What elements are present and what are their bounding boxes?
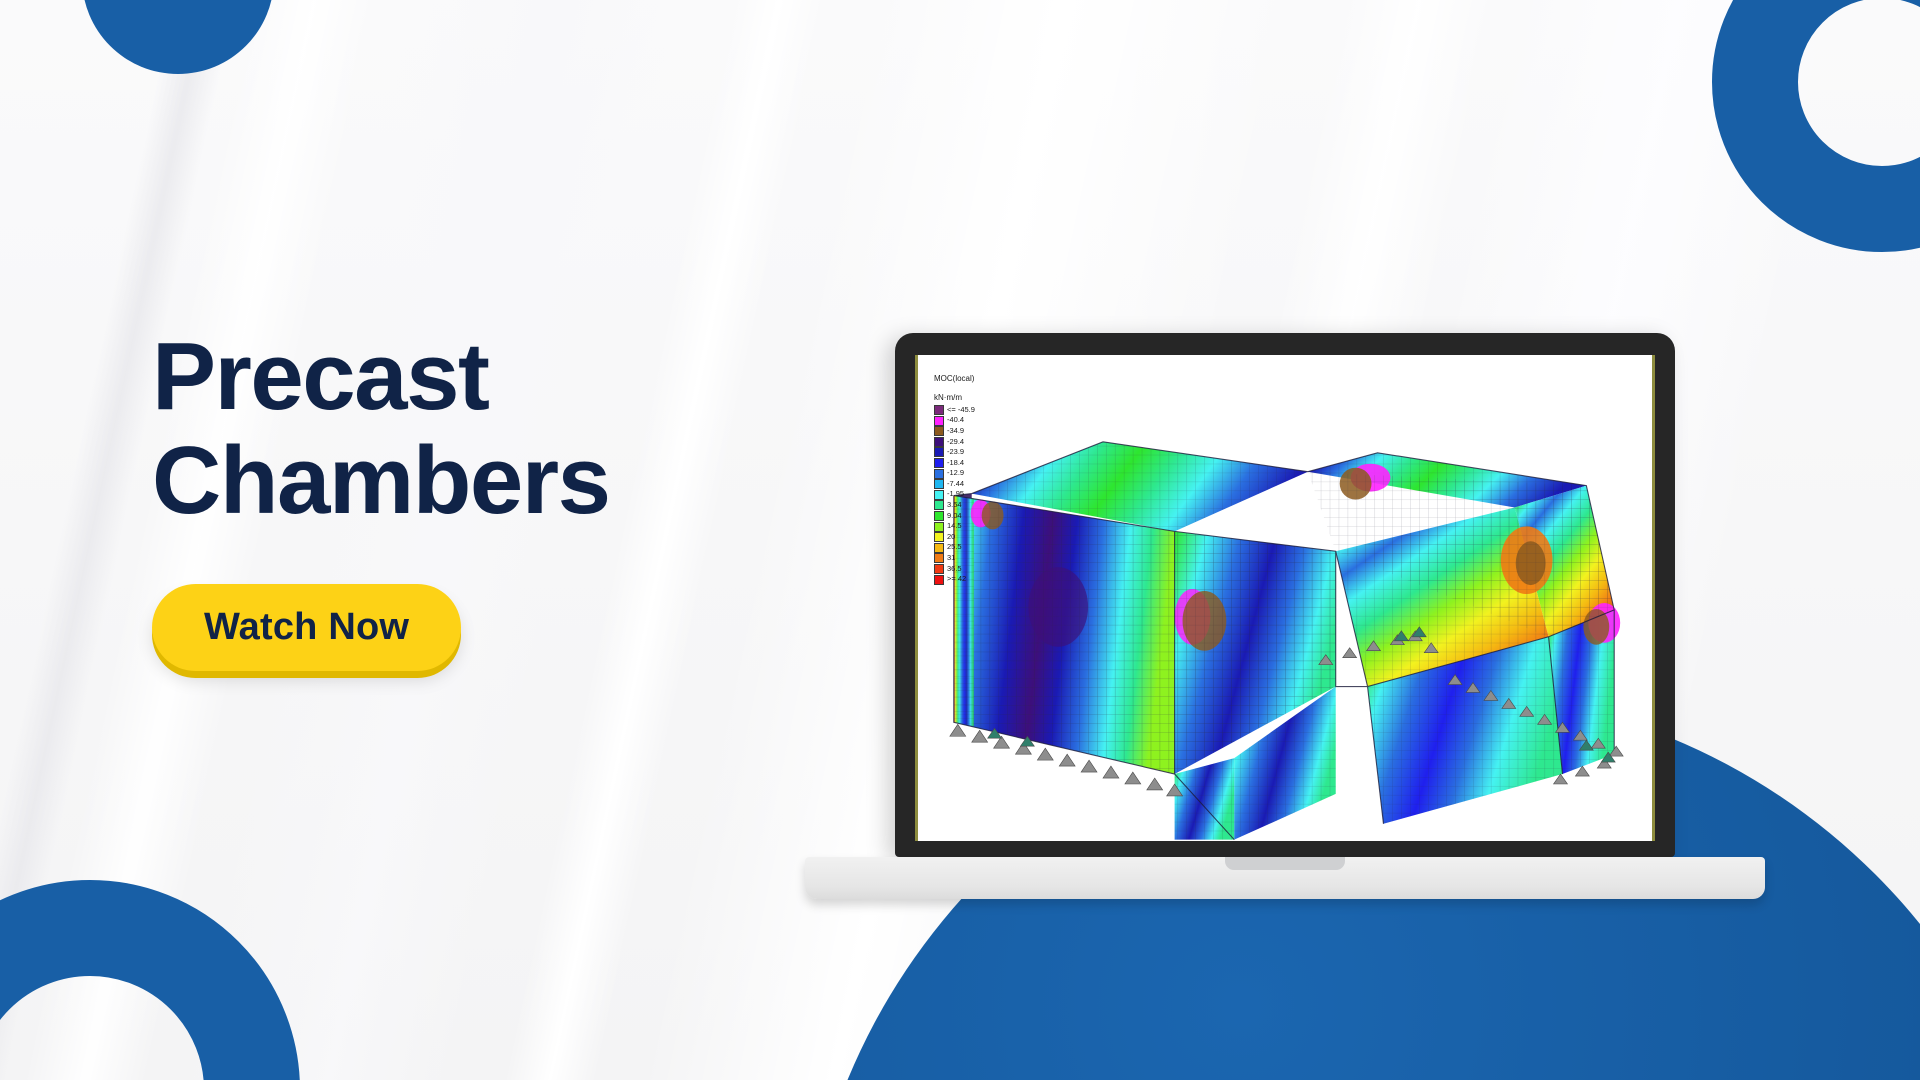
legend-label: 9.04	[947, 512, 962, 521]
laptop-lid: MOC(local) kN·m/m <= -45.9-40.4-34.9-29.…	[895, 333, 1675, 857]
legend-label: -18.4	[947, 459, 964, 468]
legend-item: 3.54	[934, 500, 1008, 511]
fea-contour-plot: MOC(local) kN·m/m <= -45.9-40.4-34.9-29.…	[918, 355, 1652, 841]
legend-label: >= 42	[947, 575, 966, 584]
legend-item: -7.44	[934, 479, 1008, 490]
page-title: Precast Chambers	[152, 325, 792, 532]
legend-item: -29.4	[934, 437, 1008, 448]
legend-item: 20	[934, 532, 1008, 543]
laptop-base	[805, 857, 1765, 899]
legend-swatch	[934, 532, 944, 542]
legend-quantity: MOC(local)	[934, 374, 974, 383]
legend-swatch	[934, 553, 944, 563]
legend-item: -12.9	[934, 468, 1008, 479]
legend-label: -34.9	[947, 427, 964, 436]
legend-title: MOC(local) kN·m/m	[934, 365, 1008, 402]
legend-rows: <= -45.9-40.4-34.9-29.4-23.9-18.4-12.9-7…	[934, 405, 1008, 585]
legend-swatch	[934, 500, 944, 510]
legend-label: -29.4	[947, 438, 964, 447]
laptop-screen[interactable]: MOC(local) kN·m/m <= -45.9-40.4-34.9-29.…	[915, 355, 1655, 841]
legend-label: 25.5	[947, 543, 962, 552]
legend-item: 36.5	[934, 564, 1008, 575]
legend-swatch	[934, 479, 944, 489]
legend-label: 31	[947, 554, 955, 563]
legend-item: <= -45.9	[934, 405, 1008, 416]
legend-item: -23.9	[934, 447, 1008, 458]
legend-label: -1.95	[947, 490, 964, 499]
legend-label: -40.4	[947, 416, 964, 425]
legend-label: 3.54	[947, 501, 962, 510]
legend-item: 31	[934, 553, 1008, 564]
contour-legend: MOC(local) kN·m/m <= -45.9-40.4-34.9-29.…	[934, 365, 1008, 585]
legend-swatch	[934, 522, 944, 532]
legend-swatch	[934, 437, 944, 447]
hero-copy: Precast Chambers Watch Now	[152, 325, 792, 671]
legend-item: -34.9	[934, 426, 1008, 437]
legend-item: >= 42	[934, 574, 1008, 585]
legend-swatch	[934, 447, 944, 457]
fea-model-graphic	[918, 355, 1652, 841]
legend-label: -23.9	[947, 448, 964, 457]
legend-swatch	[934, 405, 944, 415]
legend-swatch	[934, 575, 944, 585]
legend-swatch	[934, 469, 944, 479]
legend-swatch	[934, 564, 944, 574]
legend-label: 14.5	[947, 522, 962, 531]
legend-item: -1.95	[934, 490, 1008, 501]
legend-swatch	[934, 458, 944, 468]
hero-banner: Precast Chambers Watch Now	[0, 0, 1920, 1080]
legend-item: 9.04	[934, 511, 1008, 522]
legend-units: kN·m/m	[934, 393, 962, 402]
legend-label: -7.44	[947, 480, 964, 489]
legend-item: 25.5	[934, 542, 1008, 553]
legend-label: 20	[947, 533, 955, 542]
legend-swatch	[934, 490, 944, 500]
legend-item: -18.4	[934, 458, 1008, 469]
laptop-mockup: MOC(local) kN·m/m <= -45.9-40.4-34.9-29.…	[895, 333, 1675, 899]
legend-swatch	[934, 543, 944, 553]
watch-now-button[interactable]: Watch Now	[152, 584, 461, 671]
legend-label: -12.9	[947, 469, 964, 478]
legend-swatch	[934, 511, 944, 521]
legend-swatch	[934, 416, 944, 426]
legend-label: <= -45.9	[947, 406, 975, 415]
legend-item: 14.5	[934, 521, 1008, 532]
legend-item: -40.4	[934, 415, 1008, 426]
legend-swatch	[934, 426, 944, 436]
legend-label: 36.5	[947, 565, 962, 574]
